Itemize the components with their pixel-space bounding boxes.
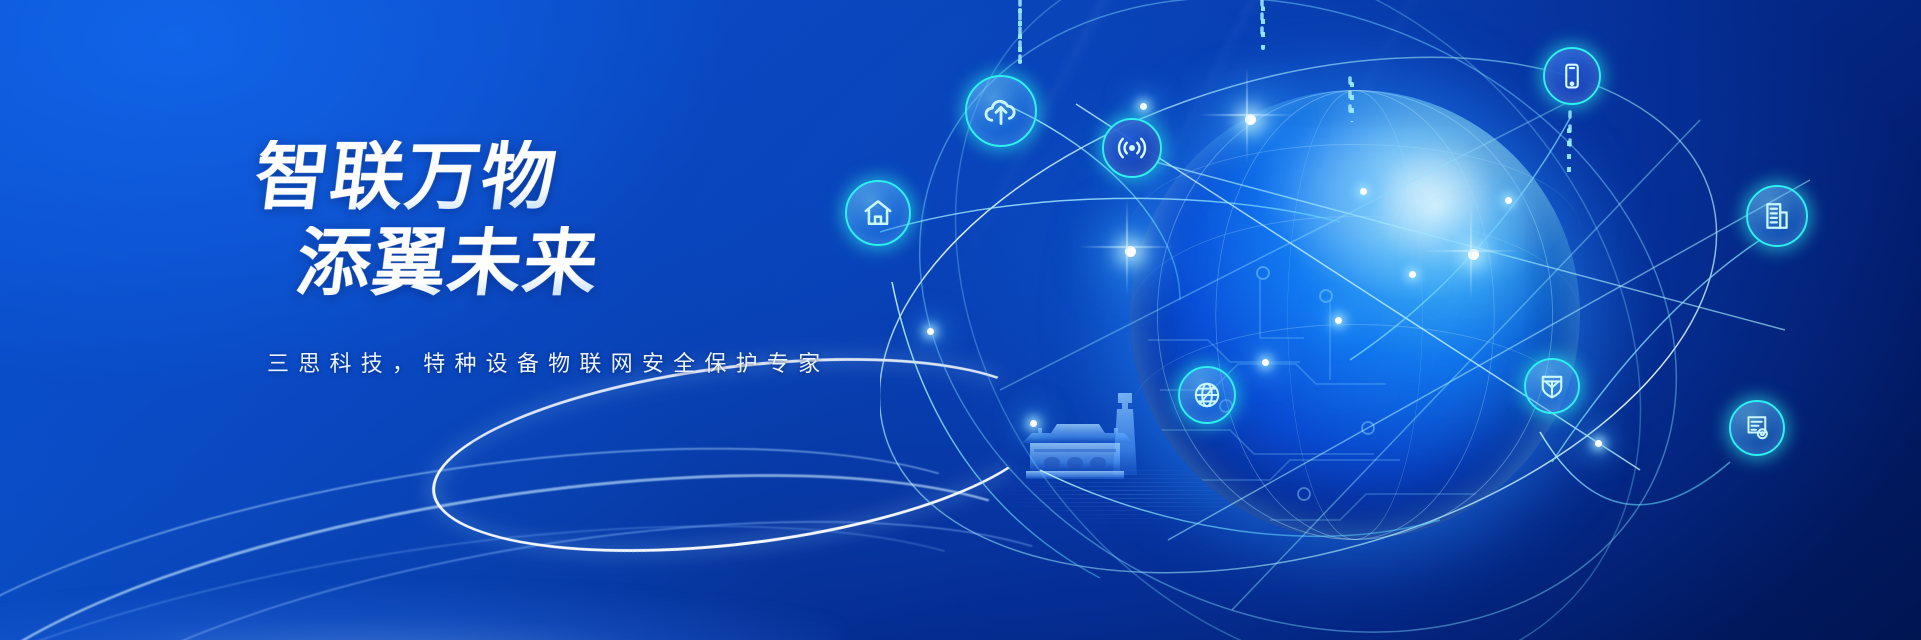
shield-glyph [1537, 371, 1567, 401]
glow-node [1335, 317, 1342, 324]
document-gear-glyph [1742, 413, 1772, 443]
globe-parallel-3 [1130, 144, 1580, 315]
headline-line-1: 智联万物 [250, 140, 1019, 214]
globe-network-icon[interactable] [1178, 366, 1236, 424]
glow-node [1030, 420, 1037, 427]
signal-dots-emitter [1261, 6, 1265, 50]
glow-node [1468, 249, 1479, 260]
glow-node [1245, 114, 1256, 125]
iot-network-globe [1130, 90, 1580, 540]
glow-node [1140, 103, 1147, 110]
headline-line-2: 添翼未来 [292, 226, 1019, 300]
glow-node [1595, 440, 1602, 447]
headline-block: 智联万物 添翼未来 三思科技，特种设备物联网安全保护专家 [255, 140, 1015, 378]
wifi-signal-icon[interactable] [1102, 118, 1162, 178]
banner-subtitle: 三思科技，特种设备物联网安全保护专家 [267, 346, 1015, 378]
glow-node [1360, 188, 1367, 195]
document-gear-icon[interactable] [1729, 400, 1785, 456]
wifi-signal-glyph [1115, 131, 1149, 165]
glow-node [1125, 246, 1136, 257]
building-glyph [1761, 200, 1793, 232]
shield-icon[interactable] [1524, 358, 1580, 414]
signal-dots-emitter [1350, 82, 1354, 122]
glow-node [1409, 271, 1416, 278]
mobile-phone-icon[interactable] [1543, 47, 1601, 105]
globe-network-glyph [1191, 379, 1223, 411]
hero-banner: 智联万物 添翼未来 三思科技，特种设备物联网安全保护专家 [0, 0, 1921, 640]
signal-dots-emitter [1018, 8, 1022, 64]
glow-node [1262, 359, 1269, 366]
cloud-upload-icon[interactable] [965, 75, 1037, 147]
building-icon[interactable] [1746, 185, 1808, 247]
glow-node [1505, 197, 1512, 204]
signal-dots-emitter [1567, 128, 1571, 174]
mobile-phone-glyph [1557, 61, 1587, 91]
cloud-upload-glyph [981, 91, 1021, 131]
